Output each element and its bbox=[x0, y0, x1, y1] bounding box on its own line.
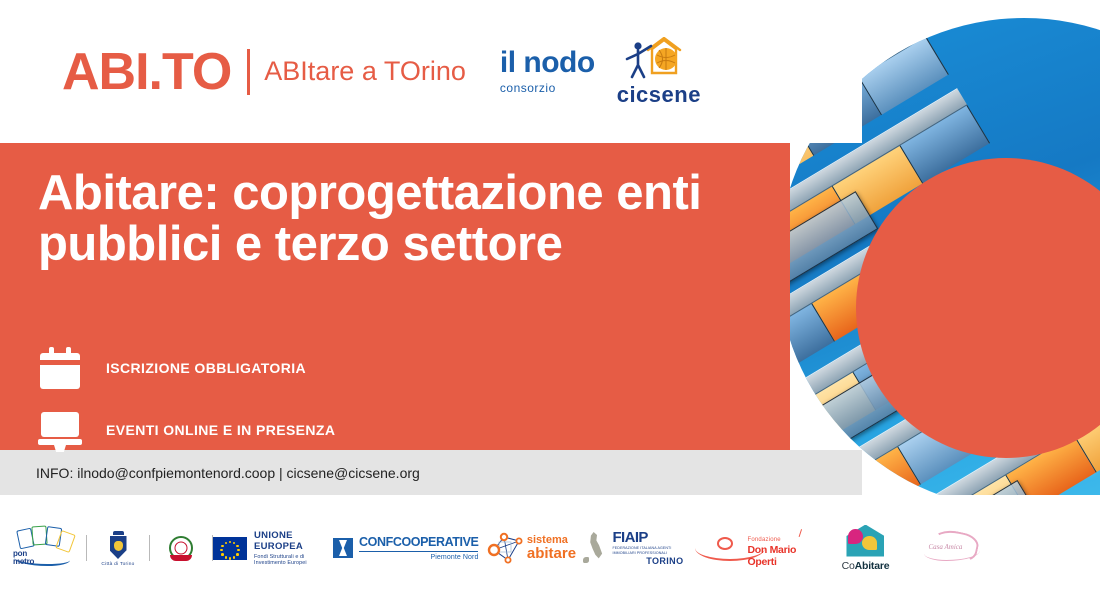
footer-logos: pon metro Città di Torino bbox=[0, 498, 1100, 598]
torino-caption: Città di Torino bbox=[87, 561, 149, 567]
cicsene-logo: cicsene bbox=[617, 37, 701, 106]
sistema-abitare-line2: abitare bbox=[527, 546, 576, 562]
brand-row: ABI.TO ABItare a TOrino il nodo consorzi… bbox=[0, 0, 862, 143]
abito-wordmark: ABI.TO bbox=[62, 46, 231, 98]
coabitare-house-icon bbox=[846, 525, 884, 557]
logo-signature: Casa Amica bbox=[911, 518, 1001, 578]
operti-line2: Don Mario Operti bbox=[747, 544, 807, 568]
logo-pon-metro: pon metro bbox=[0, 518, 86, 578]
abito-tagline: ABItare a TOrino bbox=[264, 58, 466, 85]
italy-map-icon bbox=[583, 531, 609, 565]
feature-registration: ISCRIZIONE OBBLIGATORIA bbox=[36, 344, 335, 392]
coabitare-prefix: Co bbox=[842, 560, 855, 572]
brand-divider bbox=[247, 49, 250, 95]
event-title: Abitare: coprogettazione enti pubblici e… bbox=[38, 168, 758, 270]
feature-label: ISCRIZIONE OBBLIGATORIA bbox=[106, 360, 306, 376]
confcooperative-title: CONFCOOPERATIVE bbox=[359, 536, 478, 549]
sistema-abitare-line1: sistema bbox=[527, 535, 576, 546]
feature-label: EVENTI ONLINE E IN PRESENZA bbox=[106, 422, 335, 438]
cicsene-wordmark: cicsene bbox=[617, 84, 701, 106]
eu-subtitle: Fondi Strutturali e di Investimento Euro… bbox=[254, 554, 333, 566]
eu-flag-icon bbox=[213, 537, 247, 560]
logo-confcooperative: CONFCOOPERATIVE Piemonte Nord bbox=[333, 518, 478, 578]
logo-unione-europea: UNIONE EUROPEA Fondi Strutturali e di In… bbox=[213, 518, 333, 578]
logo-coabitare: CoAbitare bbox=[819, 518, 911, 578]
feature-format: EVENTI ONLINE E IN PRESENZA bbox=[36, 406, 335, 454]
eu-title: UNIONE EUROPEA bbox=[254, 530, 333, 552]
sistema-abitare-network-icon bbox=[486, 530, 526, 566]
pon-metro-line2: metro bbox=[13, 557, 34, 566]
monitor-icon bbox=[36, 409, 84, 451]
logo-fiaip: FIAIP FEDERAZIONE ITALIANA AGENTI IMMOBI… bbox=[583, 518, 683, 578]
confcooperative-subtitle: Piemonte Nord bbox=[359, 554, 478, 561]
cicsene-mark-icon bbox=[618, 37, 700, 83]
signature-text: Casa Amica bbox=[928, 543, 962, 551]
logo-fondazione-operti: Fondazione Don Mario Operti bbox=[683, 518, 819, 578]
ilnodo-logo: il nodo consorzio bbox=[500, 48, 595, 95]
coabitare-suffix: Abitare bbox=[855, 560, 890, 572]
ilnodo-wordmark: il nodo bbox=[500, 48, 595, 78]
confcooperative-mark-icon bbox=[333, 538, 353, 558]
operti-line1: Fondazione bbox=[747, 537, 780, 543]
abito-logo: ABI.TO ABItare a TOrino bbox=[62, 46, 466, 98]
logo-repubblica-italiana bbox=[150, 518, 212, 578]
info-contact: INFO: ilnodo@confpiemontenord.coop | cic… bbox=[36, 450, 420, 495]
fiaip-subtitle: FEDERAZIONE ITALIANA AGENTI IMMOBILIARI … bbox=[612, 546, 683, 555]
calendar-icon bbox=[36, 347, 84, 389]
fiaip-city: TORINO bbox=[612, 556, 683, 566]
logo-citta-di-torino: Città di Torino bbox=[87, 518, 149, 578]
fiaip-title: FIAIP bbox=[612, 530, 683, 545]
ilnodo-subtitle: consorzio bbox=[500, 81, 595, 95]
logo-sistema-abitare: sistema abitare bbox=[478, 518, 583, 578]
